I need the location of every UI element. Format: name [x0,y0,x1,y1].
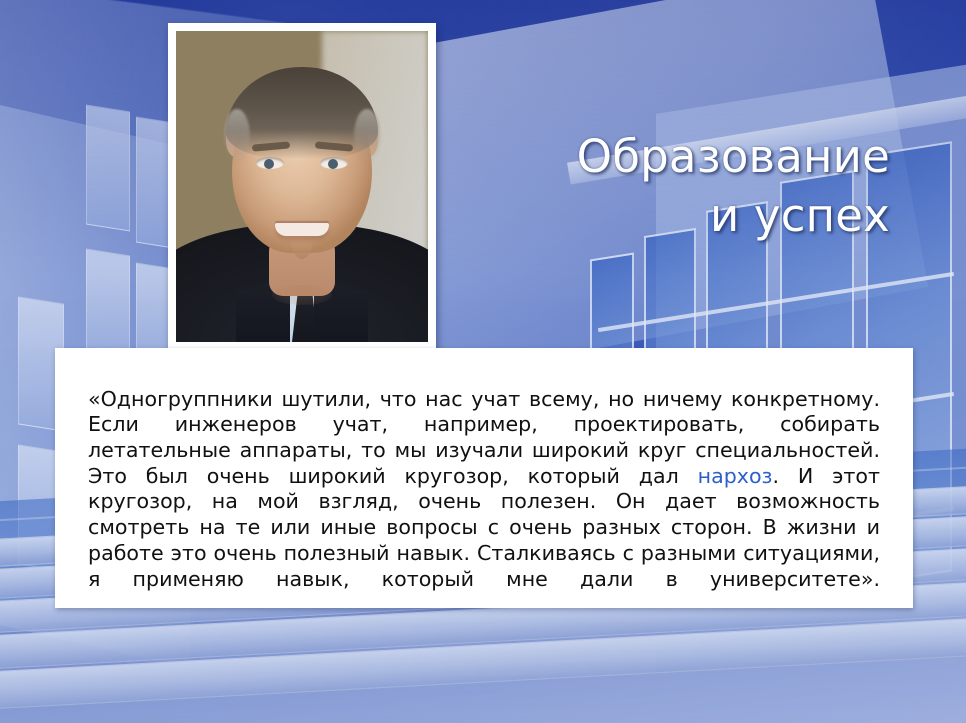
quote-highlight-narhoz: нархоз [698,464,773,488]
portrait-photo [176,31,428,342]
pupil-right [328,159,338,169]
chin [272,285,332,305]
quote-paragraph: «Одногруппники шутили, что нас учат всем… [88,387,880,618]
slide-title: Образование и успех [440,128,890,245]
hair-temple-right [354,109,380,163]
hair-temple-left [224,109,250,163]
mouth [275,223,329,236]
pupil-left [264,159,274,169]
quote-panel: «Одногруппники шутили, что нас учат всем… [55,348,913,608]
slide-canvas: Образование и успех «Одногруппники шутил… [0,0,966,723]
portrait-frame [168,23,436,350]
